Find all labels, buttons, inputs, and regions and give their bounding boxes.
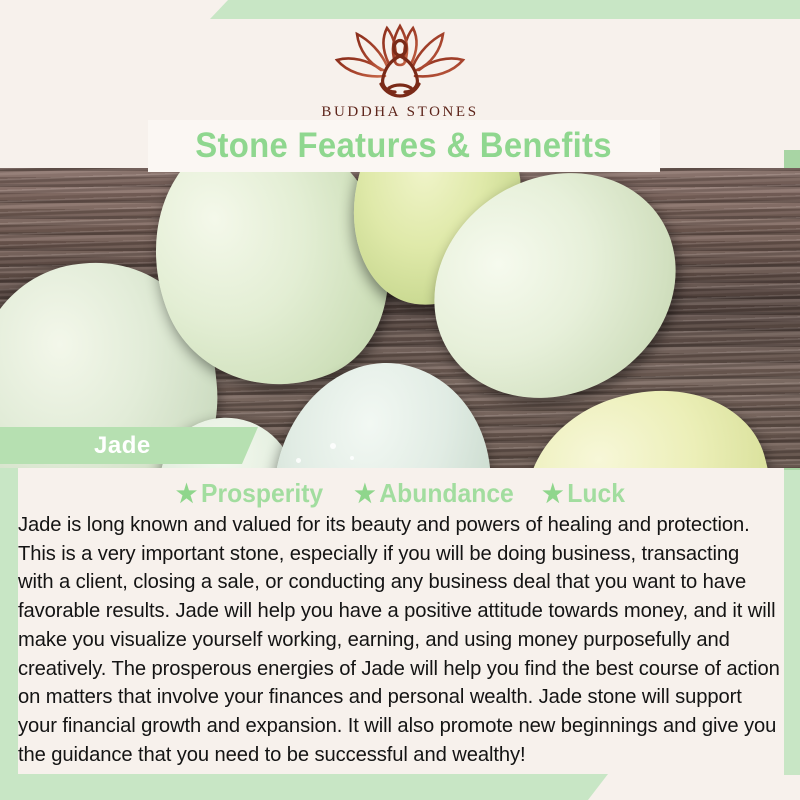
benefit-label: Abundance: [379, 478, 513, 508]
stone-glint: [296, 458, 301, 463]
brand-logo: BUDDHA STONES: [0, 22, 800, 121]
description-line: with a client, closing a sale, or conduc…: [18, 568, 773, 597]
benefit-item-prosperity: ★Prosperity: [176, 478, 323, 509]
description-block: Jade is long known and valued for its be…: [18, 511, 784, 769]
decorative-band-top: [210, 0, 800, 19]
description-line: creatively. The prosperous energies of J…: [18, 655, 773, 684]
benefit-label: Luck: [568, 478, 626, 508]
benefit-item-abundance: ★Abundance: [354, 478, 514, 509]
benefit-item-luck: ★Luck: [543, 478, 626, 509]
description-line: your financial growth and expansion. It …: [18, 712, 773, 741]
star-icon: ★: [354, 480, 375, 508]
description-line: the guidance that you need to be success…: [18, 741, 773, 770]
page-title: Stone Features & Benefits: [196, 126, 613, 166]
benefits-row: ★Prosperity ★Abundance ★Luck: [0, 478, 800, 509]
description-line: favorable results. Jade will help you ha…: [18, 597, 773, 626]
stone-photo: [0, 168, 800, 468]
stone-glint: [350, 456, 354, 460]
decorative-strip-right-lower: [784, 470, 800, 775]
stone-name-badge: Jade: [0, 427, 258, 464]
stone-name-label: Jade: [94, 432, 151, 460]
description-line: on matters that involve your finances an…: [18, 683, 773, 712]
description-line: This is a very important stone, especial…: [18, 540, 773, 569]
title-banner: Stone Features & Benefits: [148, 120, 660, 172]
stone-glint: [330, 443, 336, 449]
star-icon: ★: [543, 480, 564, 508]
brand-name: BUDDHA STONES: [0, 104, 800, 121]
benefit-label: Prosperity: [201, 478, 323, 508]
description-line: make you visualize yourself working, ear…: [18, 626, 773, 655]
description-line: Jade is long known and valued for its be…: [18, 511, 773, 540]
decorative-band-bottom: [0, 774, 608, 800]
lotus-meditation-icon: [325, 22, 475, 100]
star-icon: ★: [176, 480, 197, 508]
infographic-page: BUDDHA STONES Stone Features & Benefits …: [0, 0, 800, 800]
